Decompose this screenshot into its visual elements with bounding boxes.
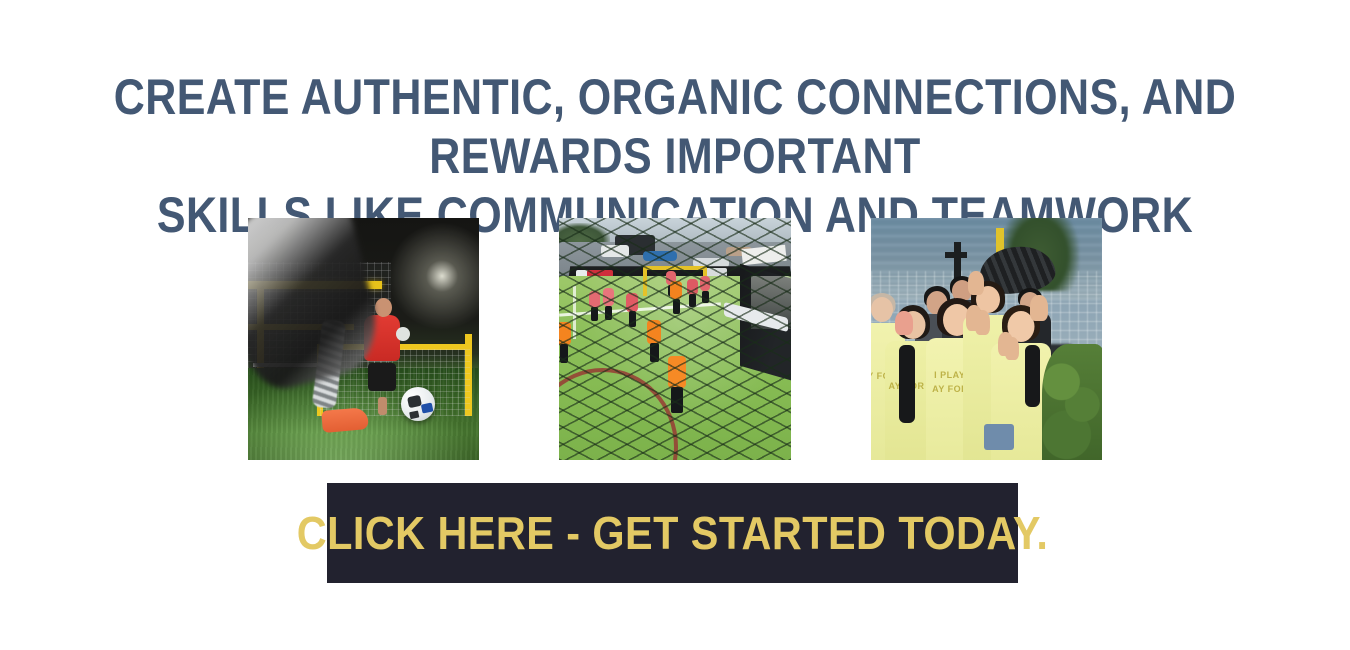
player-orange-2 — [647, 320, 661, 362]
goalkeeper-glove — [396, 327, 410, 341]
player-jersey — [670, 281, 682, 300]
goalkeeper-shorts — [368, 363, 396, 391]
photo-soccer-goalkeeper-night: Night-time soccer action: a player in or… — [248, 218, 479, 460]
player-jersey — [589, 291, 600, 308]
orange-boot — [321, 407, 369, 433]
parked-car-white — [601, 245, 629, 257]
player-jersey — [626, 293, 638, 312]
player-shorts — [702, 291, 708, 303]
player-shorts — [673, 299, 681, 314]
player-jersey — [647, 320, 661, 344]
photo-caged-pitch-overhead: Elevated view of an outdoor caged small-… — [559, 218, 790, 460]
player-jersey — [668, 356, 686, 388]
player-red-1 — [589, 291, 600, 321]
black-pole-crossarm — [945, 252, 967, 258]
player-orange-1 — [670, 281, 682, 313]
player-shorts — [605, 306, 612, 320]
player-orange-3 — [668, 356, 686, 412]
green-bush — [1042, 344, 1102, 460]
player-red-2 — [603, 288, 614, 319]
player-red-6 — [687, 279, 698, 307]
player-shorts — [560, 344, 569, 362]
player-shorts — [689, 294, 696, 307]
goalkeeper-head — [375, 298, 392, 317]
cta-button-label: CLICK HERE - GET STARTED TODAY. — [297, 510, 1049, 556]
player-shorts — [671, 387, 683, 413]
photo-gallery: Night-time soccer action: a player in or… — [208, 202, 1142, 444]
clapping-hand-2 — [975, 310, 990, 335]
player-jersey — [559, 322, 571, 345]
denim-shorts — [984, 424, 1014, 450]
raised-hand-right — [1030, 295, 1048, 321]
clapping-hand-4 — [1005, 337, 1019, 360]
player-jersey — [700, 276, 710, 291]
player-red-5 — [700, 276, 710, 302]
parked-car-blue — [643, 251, 677, 261]
player-jersey — [603, 288, 614, 306]
player-jersey — [687, 279, 698, 295]
player-shorts — [591, 307, 598, 321]
promo-page: Create authentic, organic connections, a… — [0, 0, 1350, 650]
raised-hand-left-behind — [968, 271, 984, 295]
soccer-ball — [401, 387, 435, 421]
player-shorts — [629, 311, 637, 326]
goalkeeper-leg — [378, 397, 387, 415]
shirt-slogan: I PLAY — [934, 370, 965, 380]
black-arm-sleeve — [1025, 345, 1040, 407]
get-started-cta-button[interactable]: CLICK HERE - GET STARTED TODAY. — [327, 483, 1018, 583]
black-arm-sleeve — [899, 345, 915, 423]
player-orange-4 — [559, 322, 571, 362]
player-red-3 — [626, 293, 638, 326]
player-shorts — [650, 343, 659, 362]
raised-hand — [895, 311, 913, 335]
photo-crowd-yellow-shirts: AY FOR AY FOR I PLAY AY FOR — [871, 218, 1102, 460]
